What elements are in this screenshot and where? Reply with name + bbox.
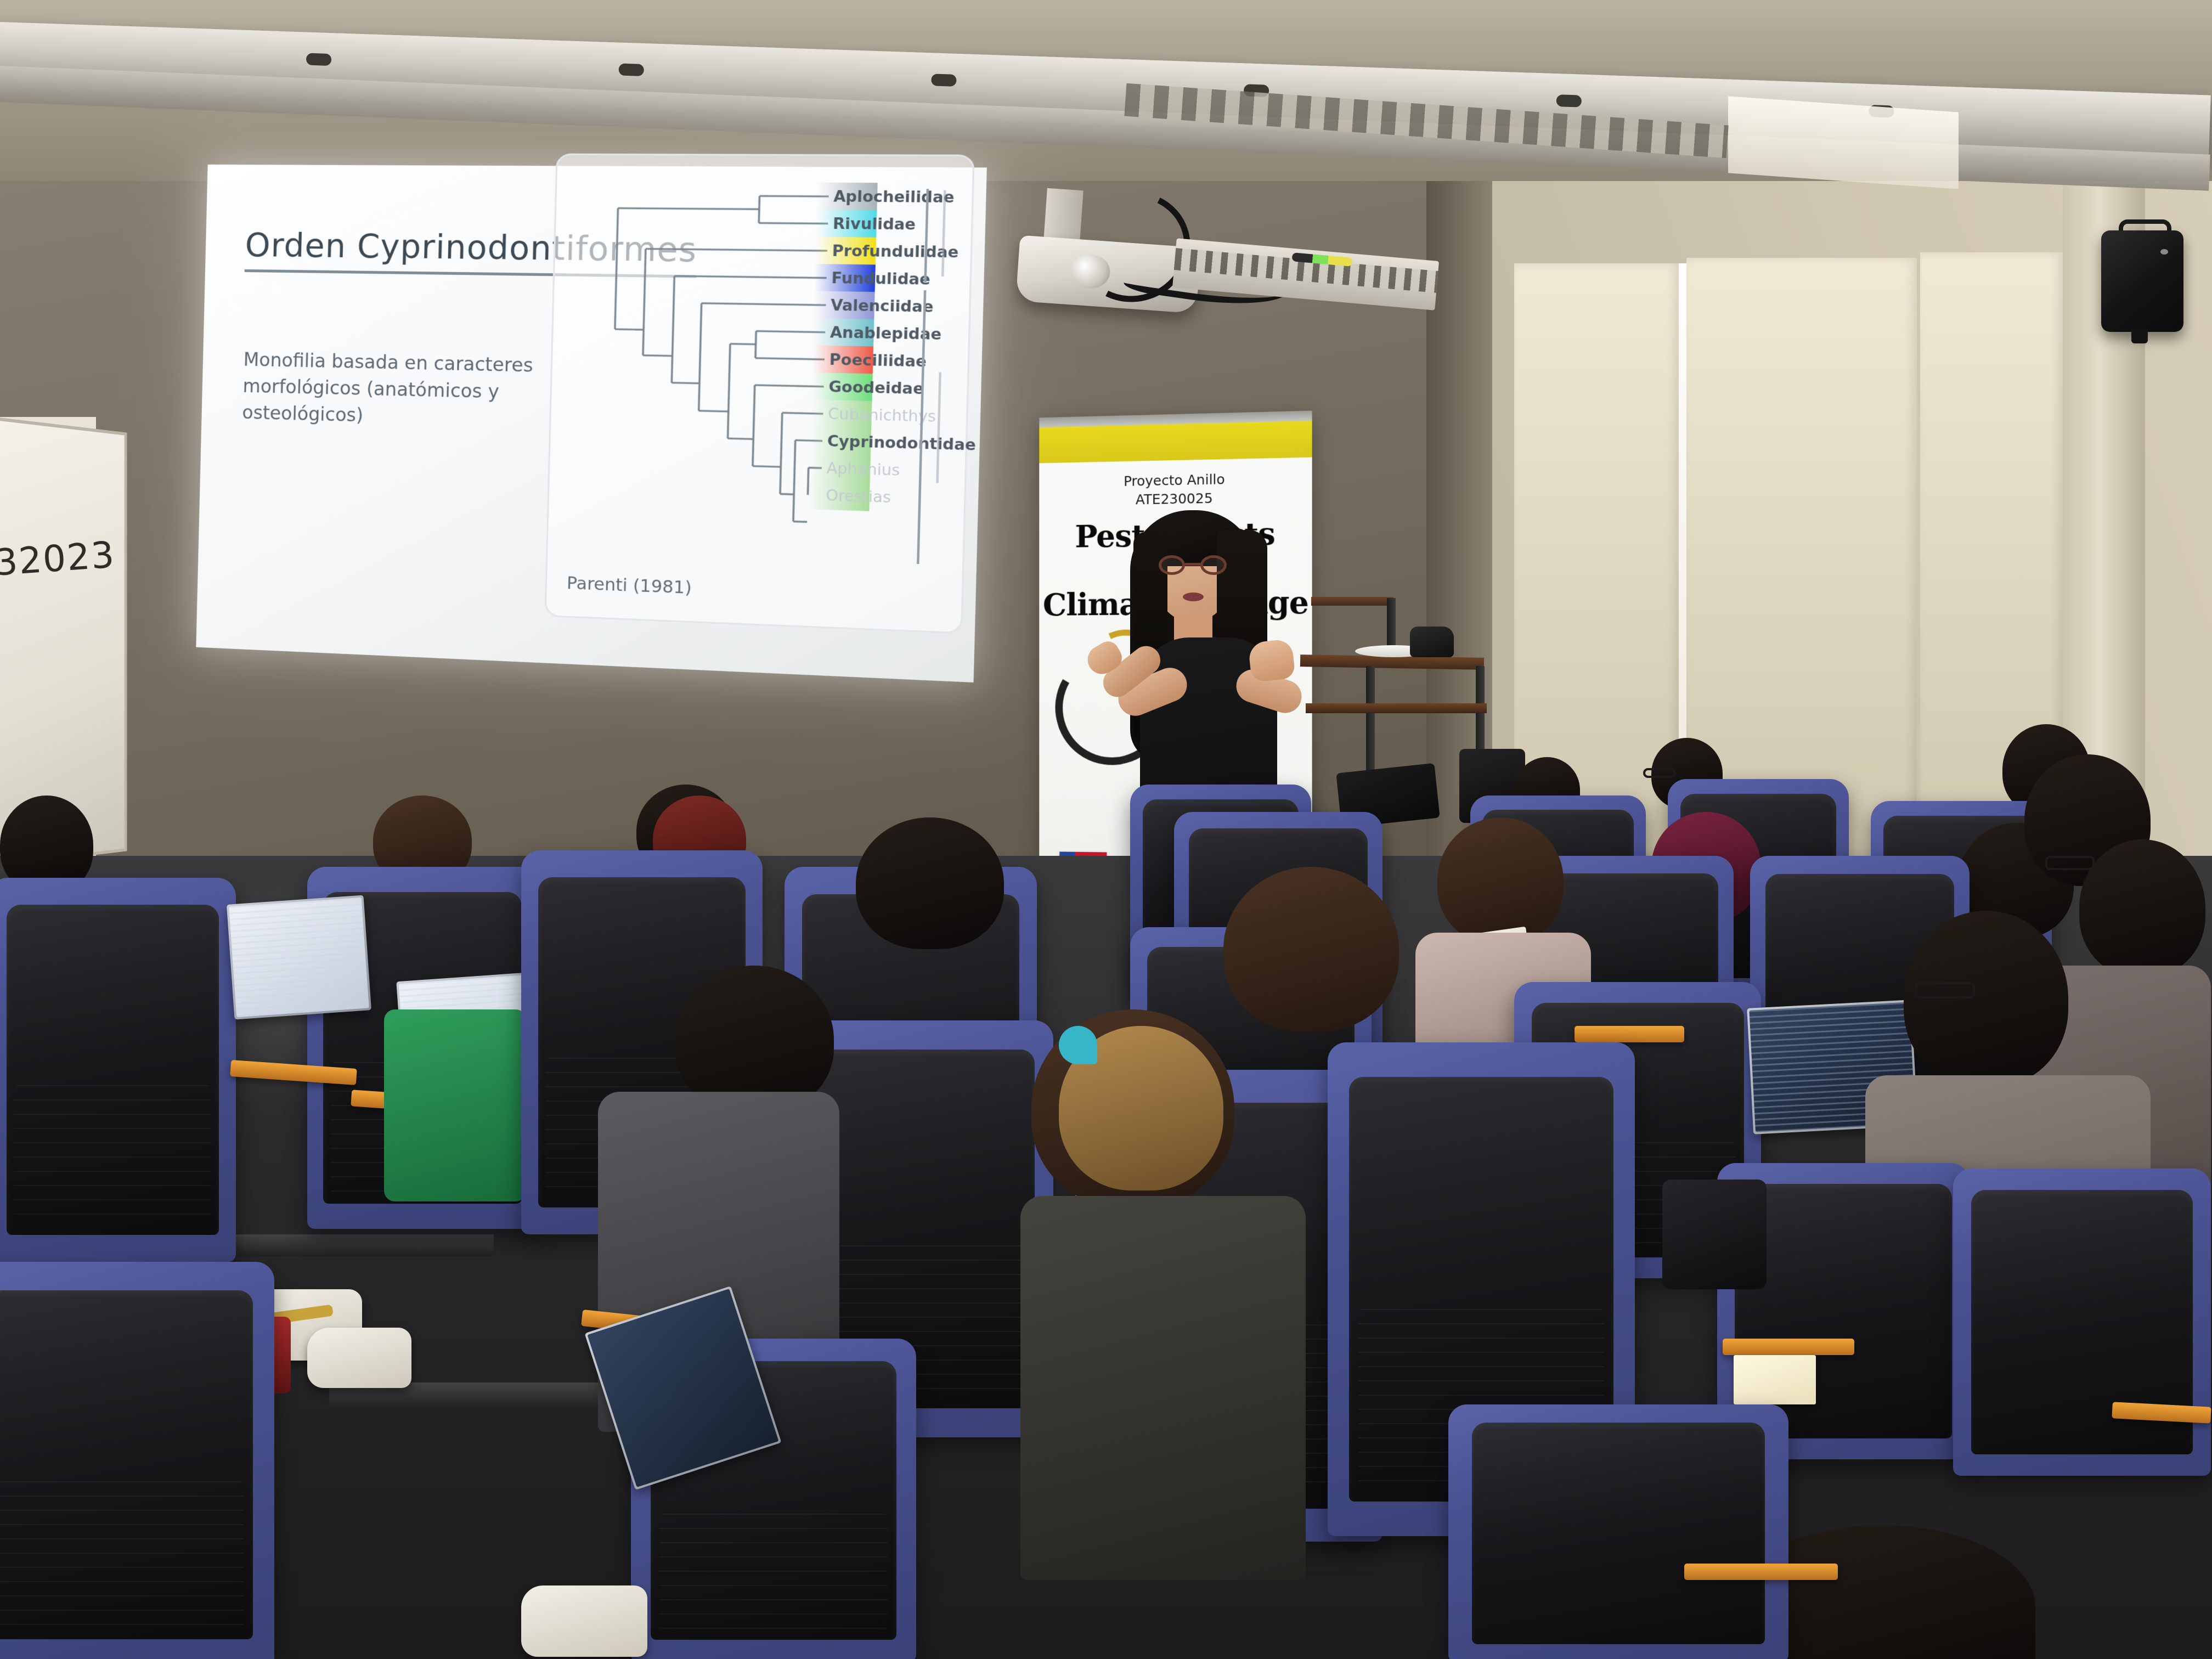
audience-torso (1020, 1196, 1306, 1580)
audience-head (2079, 839, 2205, 977)
seat[interactable] (1448, 1404, 1788, 1659)
glasses-icon (1915, 982, 1975, 998)
speaker-foot (2131, 329, 2148, 343)
banner-accent-bar (1039, 421, 1312, 464)
tablet-arm[interactable] (1575, 1026, 1684, 1042)
taxa-color-bars (558, 155, 973, 156)
ceiling-light-panel (1728, 96, 1959, 189)
seat[interactable] (1953, 1169, 2211, 1476)
glasses-icon (1643, 768, 1676, 778)
laptop[interactable] (227, 895, 371, 1020)
tablet-arm[interactable] (1684, 1564, 1838, 1580)
seat[interactable] (0, 878, 236, 1262)
banner-project-code: Proyecto Anillo ATE230025 (1039, 469, 1312, 511)
lecture-hall-photo: 32023 Orden Cyprinodontiformes Monofilia… (0, 0, 2212, 1659)
whiteboard-text: 32023 (0, 533, 116, 584)
paper-sheet[interactable] (1734, 1355, 1816, 1404)
projection-screen: Orden Cyprinodontiformes Monofilia basad… (196, 165, 987, 682)
phylogeny-card: Aplocheilidae Rivulidae Profundulidae Fu… (544, 154, 974, 634)
wall-speaker (2101, 230, 2183, 332)
slide-subtitle: Monofilia basada en caracteres morfológi… (242, 346, 536, 433)
audience-head (1223, 867, 1399, 1031)
audience-head (1904, 911, 2068, 1086)
audience-head (1437, 817, 1564, 944)
shoe (307, 1328, 411, 1388)
presenter-right-hand (1248, 639, 1295, 682)
glasses-icon (1159, 555, 1227, 575)
slide-citation: Parenti (1981) (566, 573, 692, 598)
seat[interactable] (0, 1262, 274, 1659)
backpack[interactable] (1662, 1180, 1767, 1289)
audience-head (856, 817, 1004, 949)
glasses-icon (2045, 856, 2095, 870)
hair-clip (1059, 1026, 1097, 1064)
tablet-arm[interactable] (1723, 1339, 1854, 1355)
audience-torso (384, 1009, 527, 1201)
shoe (521, 1585, 647, 1657)
table-bag (1410, 627, 1454, 657)
